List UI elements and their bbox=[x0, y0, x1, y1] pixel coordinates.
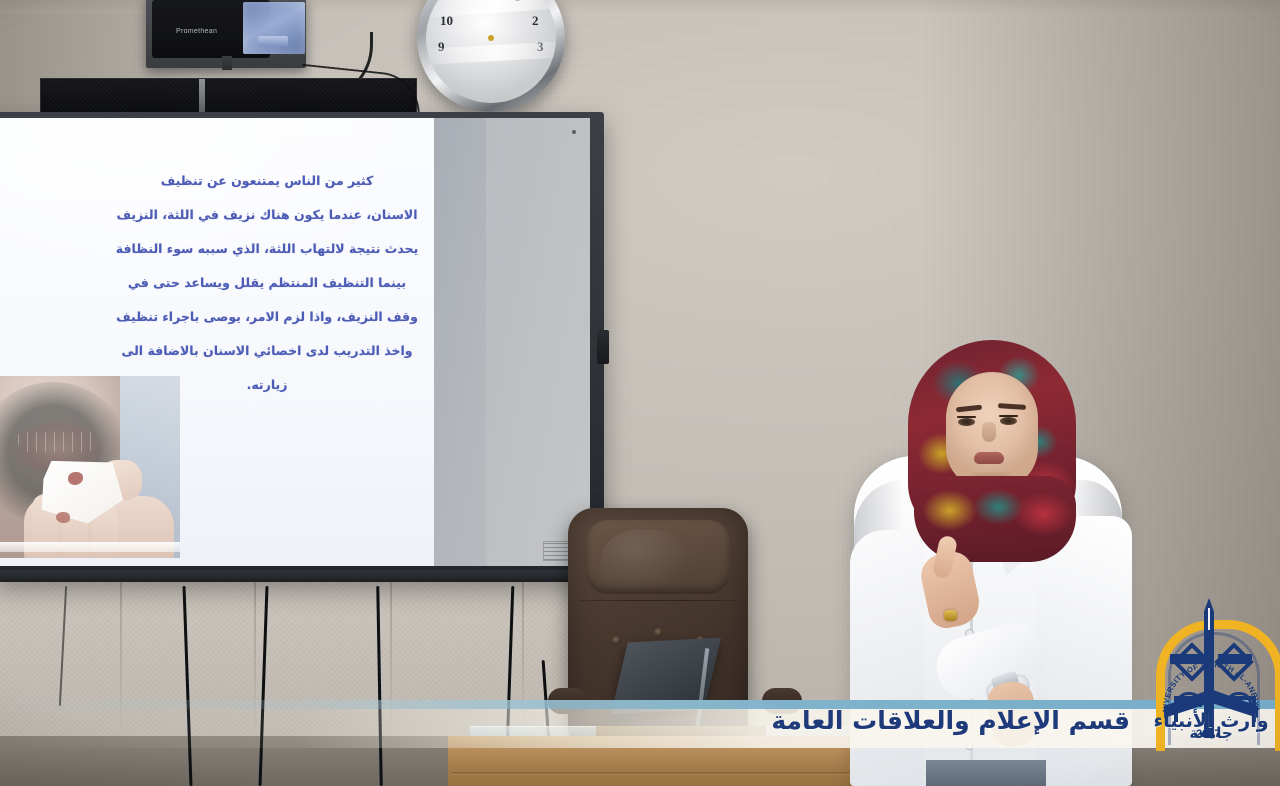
university-logo: UNIVERSITY OF WARITH AL-ANBIYAA وارث الأ… bbox=[1148, 592, 1274, 750]
eyelash-right bbox=[999, 415, 1018, 417]
presenter-trousers bbox=[926, 760, 1046, 786]
logo-pen-slit bbox=[1208, 608, 1210, 630]
whiteboard-surface[interactable]: كثير من الناس يمتنعون عن تنظيف الاسنان، … bbox=[0, 118, 590, 566]
logo-year: 2017 bbox=[1196, 728, 1220, 740]
clock-glare-lower bbox=[426, 41, 556, 65]
eye-right bbox=[1000, 417, 1017, 425]
eye-left bbox=[958, 418, 975, 426]
projection-dark-area-2 bbox=[486, 118, 590, 566]
projector-lens bbox=[258, 36, 288, 46]
clock-numeral-2: 2 bbox=[532, 13, 539, 29]
slide-line-1: كثير من الناس يمتنعون عن تنظيف bbox=[102, 164, 432, 198]
chair-highlight bbox=[600, 530, 690, 600]
logo-dome-left bbox=[1176, 692, 1202, 707]
slide-photo bbox=[0, 376, 180, 558]
slide-line-4: بينما التنظيف المنتظم يقلل ويساعد حتى في bbox=[102, 266, 432, 300]
projector-brand-label: Promethean bbox=[176, 28, 217, 35]
slide-line-3: يحدث نتيجة لالتهاب اللثة، الذي سببه سوء … bbox=[102, 232, 432, 266]
chair-button-tuft bbox=[612, 636, 621, 645]
slide-line-2: الاسنان، عندما يكون هناك نزيف في اللثة، … bbox=[102, 198, 432, 232]
photograph-scene: Promethean 12 1 2 3 9 10 bbox=[0, 0, 1280, 786]
wall-clock: 12 1 2 3 9 10 bbox=[417, 4, 565, 108]
chair-button-tuft bbox=[654, 628, 663, 637]
slide-photo-washout bbox=[0, 376, 180, 558]
presenter-ring bbox=[944, 610, 957, 621]
banner-department-text: قسم الإعلام والعلاقات العامة bbox=[771, 706, 1130, 735]
slide-line-5: وقف النزيف، واذا لزم الامر، يوصى باجراء … bbox=[102, 300, 432, 334]
nose bbox=[982, 422, 996, 442]
logo-dome-right bbox=[1226, 692, 1252, 707]
projector-arm bbox=[222, 56, 232, 70]
slide-text-block: كثير من الناس يمتنعون عن تنظيف الاسنان، … bbox=[102, 164, 432, 402]
eyelash-left bbox=[957, 416, 976, 418]
clock-center-pin bbox=[488, 35, 494, 41]
whiteboard-corner-marker bbox=[572, 130, 576, 134]
slide-photo-bottom-edge bbox=[0, 542, 180, 552]
projector-lens-housing bbox=[243, 2, 305, 54]
lips bbox=[974, 452, 1004, 464]
slide-line-6: واخذ التدريب لدى اخصائي الاسنان بالاضافة… bbox=[102, 334, 432, 368]
chair-stitching bbox=[578, 600, 738, 601]
whiteboard-side-sensor[interactable] bbox=[597, 330, 609, 364]
interactive-whiteboard[interactable]: كثير من الناس يمتنعون عن تنظيف الاسنان، … bbox=[0, 112, 604, 580]
soundbar-seam bbox=[199, 79, 205, 115]
whiteboard-pen-tray bbox=[0, 570, 604, 582]
